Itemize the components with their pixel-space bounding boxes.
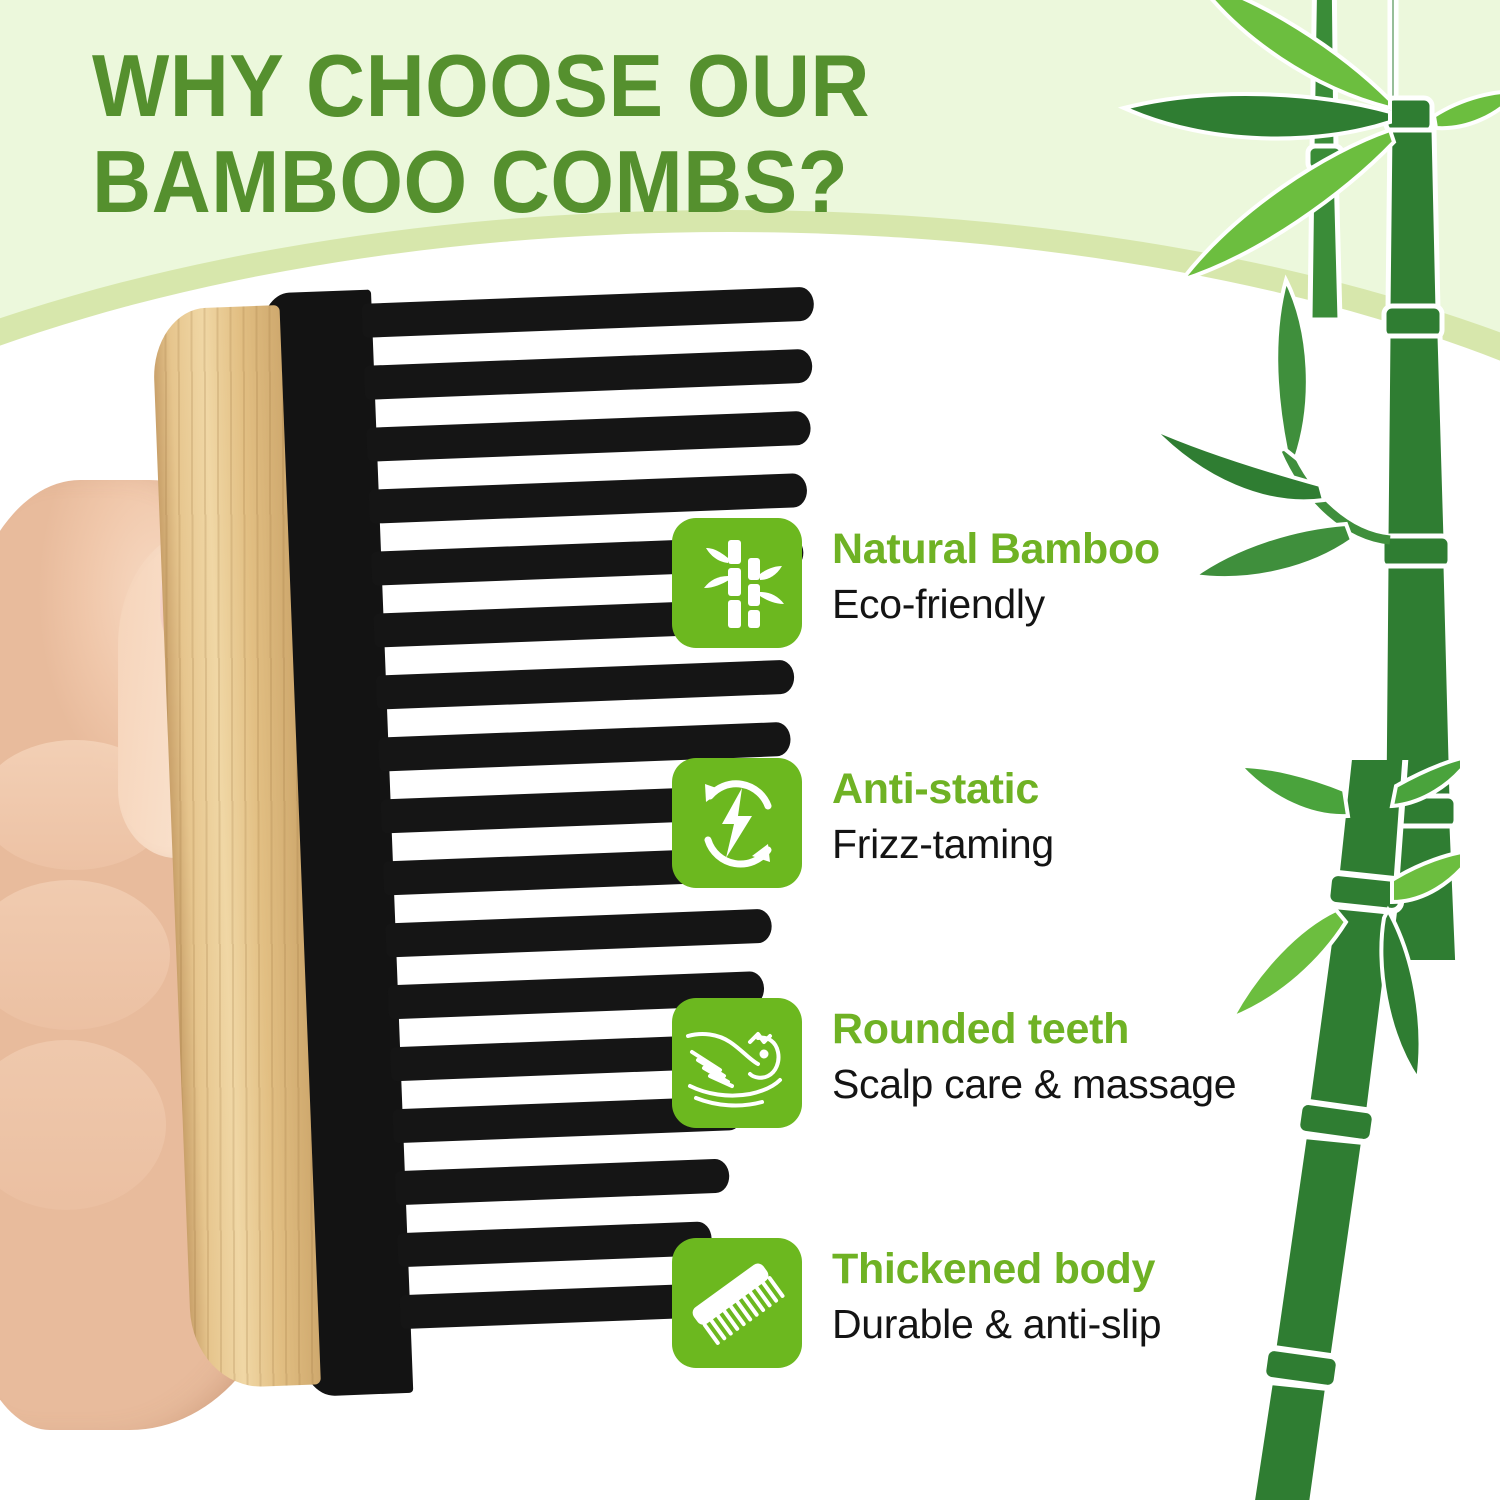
product-photo-hand-holding-comb [0, 250, 700, 1480]
feature-text: Natural Bamboo Eco-friendly [832, 524, 1392, 630]
feature-subtitle: Eco-friendly [832, 578, 1392, 630]
feature-item: Thickened body Durable & anti-slip [672, 1238, 1372, 1478]
page-title: WHY CHOOSE OUR BAMBOO COMBS? [92, 38, 1022, 230]
feature-heading: Anti-static [832, 764, 1392, 814]
feature-icon-tile [672, 998, 802, 1128]
feature-icon-tile [672, 758, 802, 888]
feature-subtitle: Frizz-taming [832, 818, 1392, 870]
knuckle-crease [0, 1040, 166, 1210]
infographic-canvas: WHY CHOOSE OUR BAMBOO COMBS? [0, 0, 1500, 1500]
feature-icon-tile [672, 1238, 802, 1368]
feature-heading: Thickened body [832, 1244, 1392, 1294]
scalp-massage-head-icon [672, 998, 802, 1128]
bamboo-stalks-icon [672, 518, 802, 648]
feature-subtitle: Durable & anti-slip [832, 1298, 1392, 1350]
feature-item: Rounded teeth Scalp care & massage [672, 998, 1372, 1238]
feature-item: Anti-static Frizz-taming [672, 758, 1372, 998]
feature-icon-tile [672, 518, 802, 648]
comb-graphic [150, 249, 754, 1430]
feature-text: Rounded teeth Scalp care & massage [832, 1004, 1392, 1110]
comb-icon [672, 1238, 802, 1368]
feature-list: Natural Bamboo Eco-friendly [672, 518, 1372, 1478]
feature-item: Natural Bamboo Eco-friendly [672, 518, 1372, 758]
feature-heading: Natural Bamboo [832, 524, 1392, 574]
feature-subtitle: Scalp care & massage [832, 1058, 1392, 1110]
feature-heading: Rounded teeth [832, 1004, 1392, 1054]
comb-tooth [400, 1284, 691, 1329]
comb-tooth [397, 1221, 712, 1267]
feature-text: Anti-static Frizz-taming [832, 764, 1392, 870]
knuckle-crease [0, 880, 170, 1030]
anti-static-recycle-bolt-icon [672, 758, 802, 888]
feature-text: Thickened body Durable & anti-slip [832, 1244, 1392, 1350]
